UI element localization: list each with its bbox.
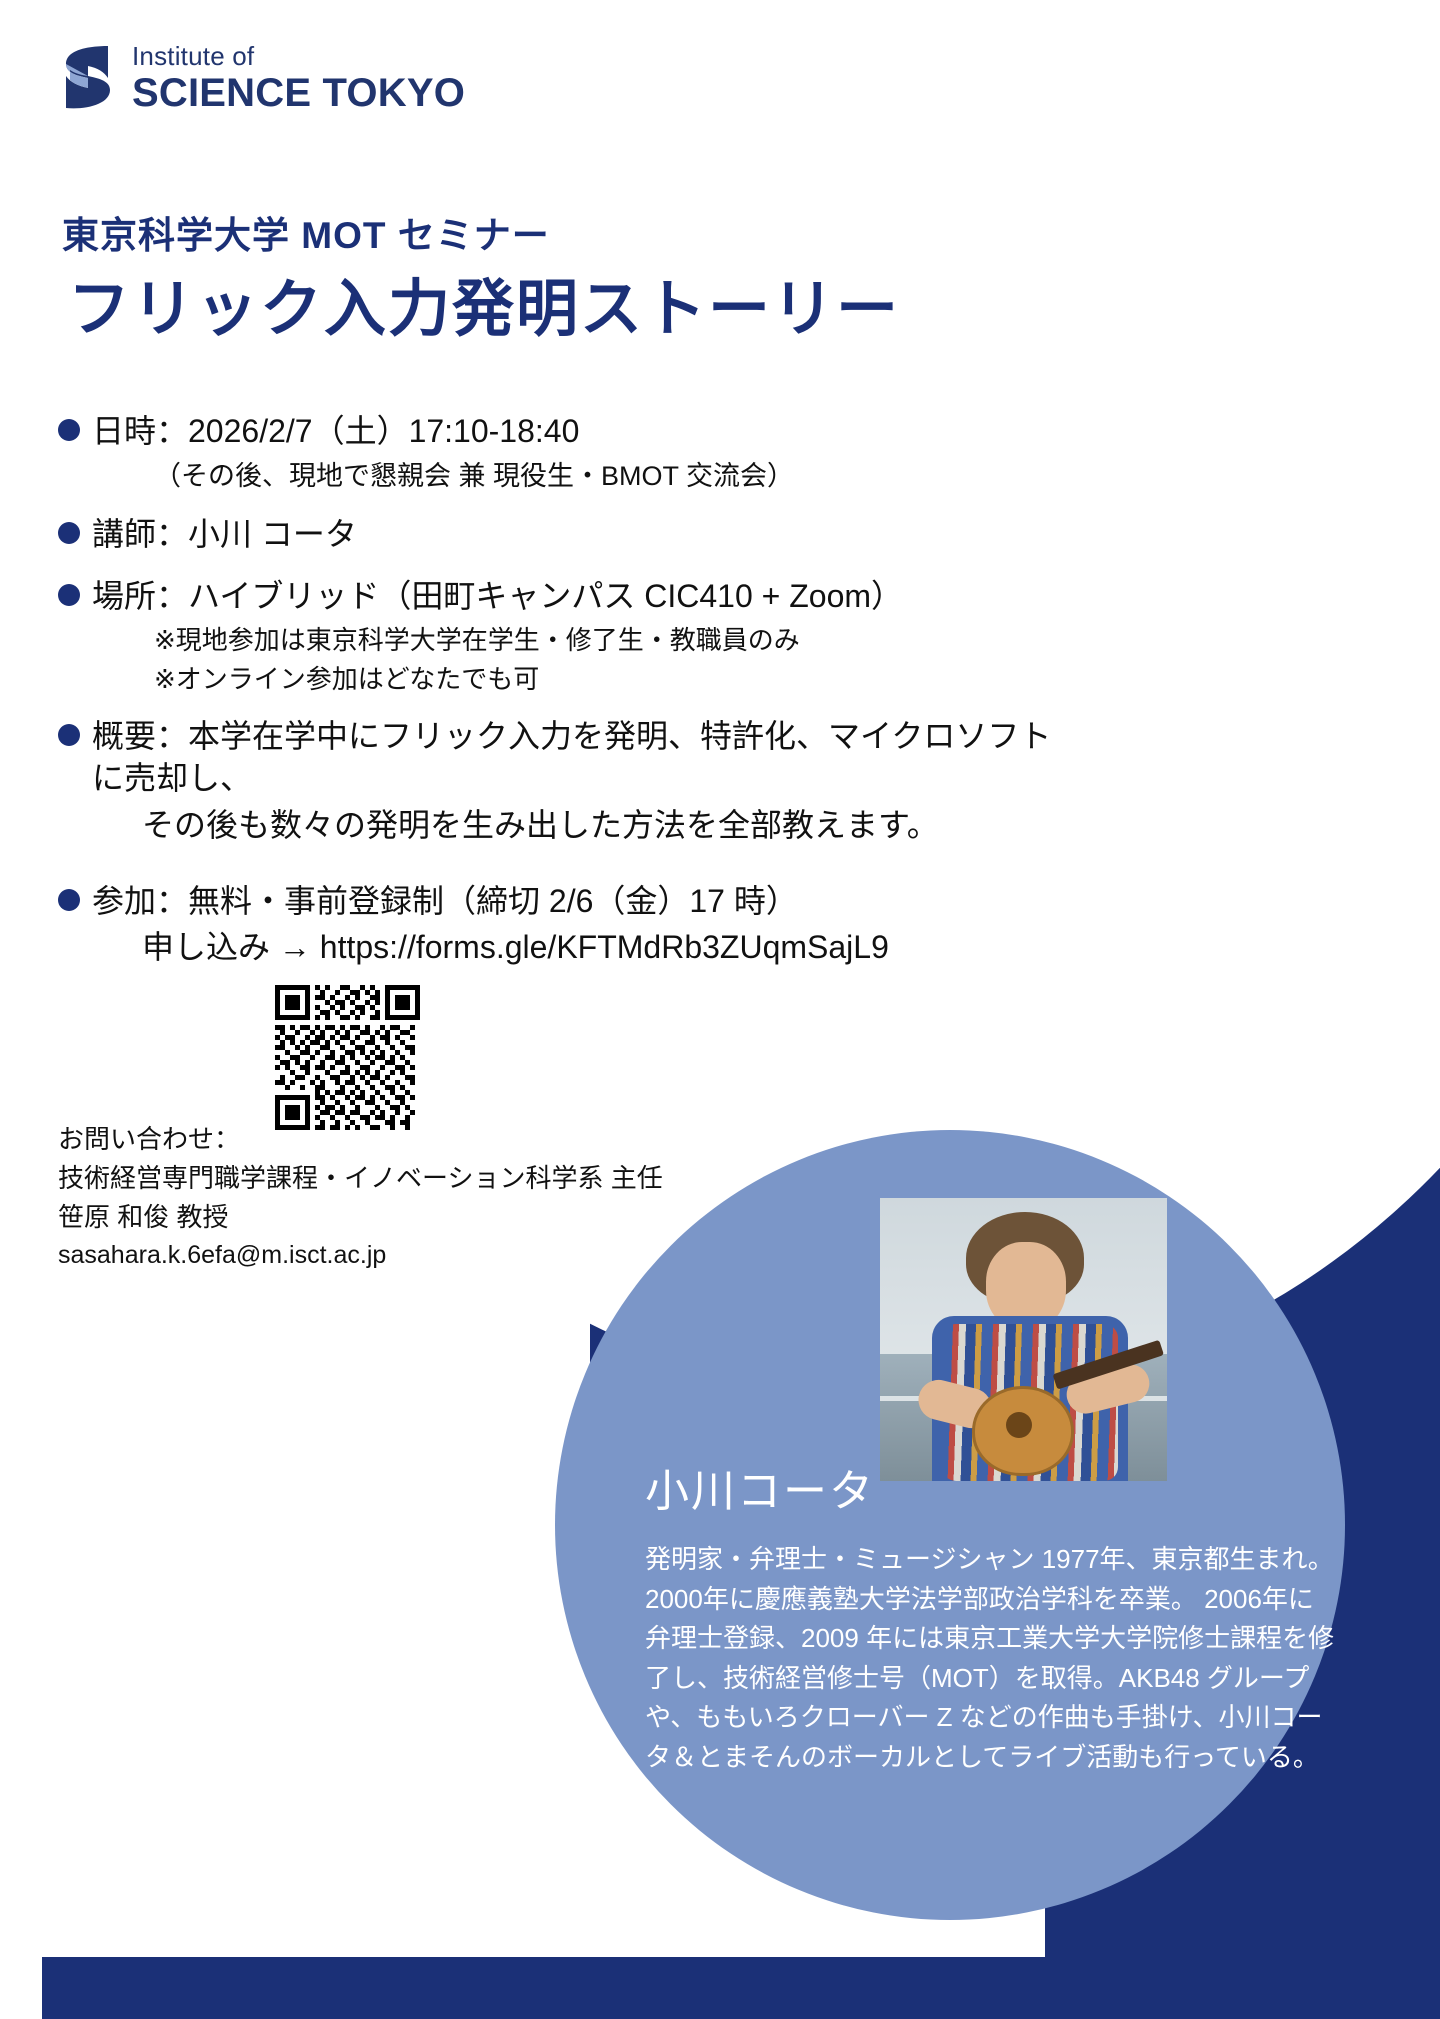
venue-note-onsite: ※現地参加は東京科学大学在学生・修了生・教職員のみ (154, 621, 1058, 660)
contact-block: お問い合わせ： 技術経営専門職学課程・イノベーション科学系 主任 笹原 和俊 教… (58, 1120, 663, 1275)
bullet-icon (58, 522, 80, 544)
speaker-photo (880, 1198, 1167, 1481)
qr-code[interactable] (275, 985, 420, 1130)
detail-row-participation: 参加：無料・事前登録制（締切 2/6（金）17 時） (58, 880, 1058, 922)
lecturer-text: 講師：小川 コータ (92, 513, 357, 555)
venue-text: 場所：ハイブリッド（田町キャンパス CIC410 + Zoom） (92, 575, 903, 617)
contact-department: 技術経営専門職学課程・イノベーション科学系 主任 (58, 1159, 663, 1198)
logo-line-science-tokyo: SCIENCE TOKYO (132, 73, 465, 113)
detail-row-datetime: 日時：2026/2/7（土）17:10-18:40 (58, 410, 1058, 452)
qr-code-icon[interactable] (275, 985, 420, 1130)
white-footer-notch (0, 1957, 42, 2019)
overview-text-line2: その後も数々の発明を生み出した方法を全部教えます。 (142, 804, 1058, 846)
photo-ukulele-soundhole (1006, 1412, 1032, 1438)
contact-person: 笹原 和俊 教授 (58, 1198, 663, 1237)
registration-link[interactable]: 申し込み → https://forms.gle/KFTMdRb3ZUqmSaj… (142, 926, 1058, 968)
logo-wordmark: Institute of SCIENCE TOKYO (132, 43, 465, 113)
poster-root: Institute of SCIENCE TOKYO 東京科学大学 MOT セミ… (0, 0, 1440, 2019)
venue-note-online: ※オンライン参加はどなたでも可 (154, 660, 1058, 699)
contact-heading: お問い合わせ： (58, 1120, 663, 1159)
detail-row-lecturer: 講師：小川 コータ (58, 513, 1058, 555)
bullet-icon (58, 889, 80, 911)
seminar-kicker: 東京科学大学 MOT セミナー (62, 205, 550, 259)
speaker-bio: 発明家・弁理士・ミュージシャン 1977年、東京都生まれ。2000年に慶應義塾大… (645, 1540, 1335, 1777)
contact-email[interactable]: sasahara.k.6efa@m.isct.ac.jp (58, 1237, 663, 1275)
bullet-icon (58, 724, 80, 746)
page-title: フリック入力発明ストーリー (68, 258, 900, 348)
bullet-icon (58, 419, 80, 441)
institute-logo: Institute of SCIENCE TOKYO (58, 42, 465, 114)
datetime-text: 日時：2026/2/7（土）17:10-18:40 (92, 410, 579, 452)
detail-row-overview: 概要：本学在学中にフリック入力を発明、特許化、マイクロソフトに売却し、 (58, 715, 1058, 799)
science-tokyo-s-mark-icon (58, 42, 116, 114)
navy-footer-strip (0, 1957, 1440, 2019)
datetime-note: （その後、現地で懇親会 兼 現役生・BMOT 交流会） (154, 456, 1058, 497)
seminar-details: 日時：2026/2/7（土）17:10-18:40 （その後、現地で懇親会 兼 … (58, 410, 1058, 968)
detail-row-venue: 場所：ハイブリッド（田町キャンパス CIC410 + Zoom） (58, 575, 1058, 617)
bullet-icon (58, 584, 80, 606)
speaker-name: 小川コータ (645, 1455, 875, 1519)
participation-text: 参加：無料・事前登録制（締切 2/6（金）17 時） (92, 880, 798, 922)
logo-line-institute: Institute of (132, 43, 465, 69)
overview-text-line1: 概要：本学在学中にフリック入力を発明、特許化、マイクロソフトに売却し、 (92, 715, 1058, 799)
